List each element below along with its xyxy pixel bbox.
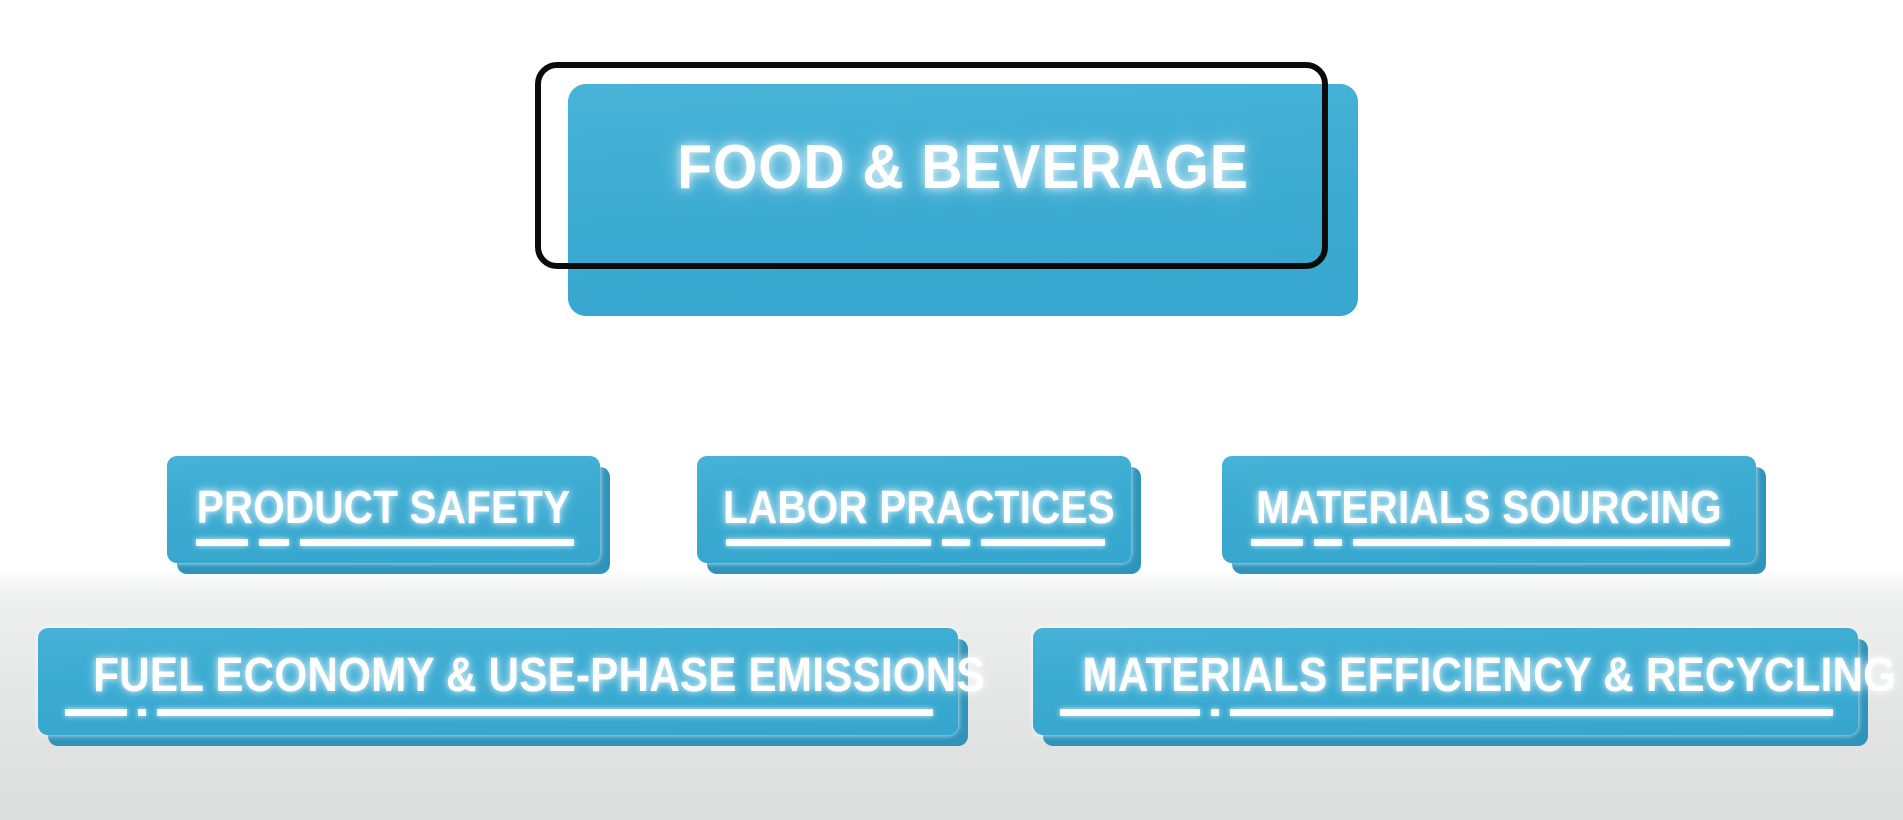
- underline-segment-c: [300, 539, 574, 546]
- card-underline: [1060, 708, 1833, 716]
- underline-segment-a: [65, 709, 127, 716]
- card-label-fuel-economy-and-use-phase-emissions: FUEL ECONOMY & USE-PHASE EMISSIONS: [93, 651, 903, 701]
- card-food-and-beverage[interactable]: FOOD & BEVERAGE: [568, 84, 1358, 316]
- underline-segment-c: [1353, 539, 1730, 546]
- card-label-labor-practices: LABOR PRACTICES: [723, 483, 1105, 531]
- background-seam: [0, 572, 1903, 594]
- card-underline: [196, 538, 574, 546]
- card-materials-efficiency-and-recycling[interactable]: MATERIALS EFFICIENCY & RECYCLING: [1033, 628, 1858, 735]
- card-label-food-and-beverage: FOOD & BEVERAGE: [600, 136, 1327, 200]
- card-labor-practices[interactable]: LABOR PRACTICES: [697, 456, 1131, 563]
- underline-segment-b: [942, 539, 970, 546]
- card-label-materials-sourcing: MATERIALS SOURCING: [1254, 483, 1724, 531]
- card-underline: [65, 708, 933, 716]
- underline-segment-b: [259, 539, 289, 546]
- underline-segment-a: [1251, 539, 1303, 546]
- card-product-safety[interactable]: PRODUCT SAFETY: [167, 456, 600, 563]
- underline-segment-a: [1060, 709, 1200, 716]
- card-materials-sourcing[interactable]: MATERIALS SOURCING: [1222, 456, 1756, 563]
- card-label-materials-efficiency-and-recycling: MATERIALS EFFICIENCY & RECYCLING: [1083, 651, 1809, 701]
- underline-segment-b: [1211, 709, 1219, 716]
- underline-segment-c: [1230, 709, 1833, 716]
- card-fuel-economy-and-use-phase-emissions[interactable]: FUEL ECONOMY & USE-PHASE EMISSIONS: [38, 628, 958, 735]
- underline-segment-c: [981, 539, 1105, 546]
- card-underline: [726, 538, 1105, 546]
- underline-segment-c: [157, 709, 933, 716]
- underline-segment-b: [1314, 539, 1342, 546]
- underline-segment-a: [726, 539, 931, 546]
- underline-segment-b: [138, 709, 146, 716]
- underline-segment-a: [196, 539, 248, 546]
- card-label-product-safety: PRODUCT SAFETY: [193, 483, 574, 531]
- card-underline: [1251, 538, 1730, 546]
- diagram-canvas: FOOD & BEVERAGE PRODUCT SAFETY LABOR PRA…: [0, 0, 1903, 820]
